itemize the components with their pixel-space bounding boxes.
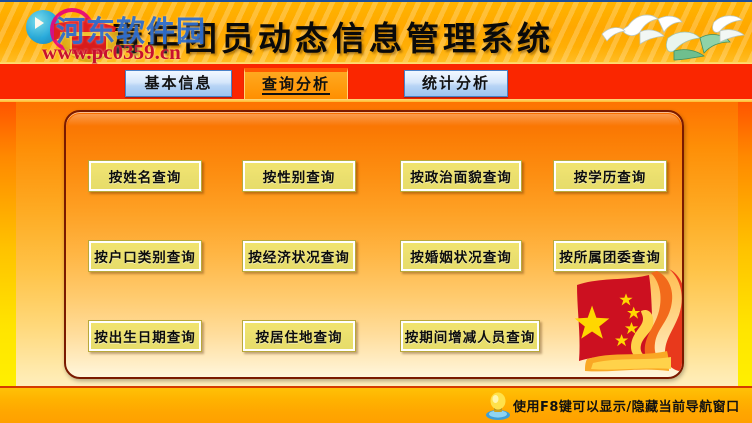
tab-basic-info[interactable]: 基本信息 — [125, 70, 232, 97]
query-button-by-birth-date[interactable]: 按出生日期查询 — [88, 320, 202, 352]
query-button-by-household-type[interactable]: 按户口类别查询 — [88, 240, 202, 272]
query-button-by-economic-status-label: 按经济状况查询 — [248, 246, 350, 266]
tab-bar: 基本信息 查询分析 统计分析 — [0, 64, 752, 101]
query-button-by-period-change-label: 按期间增减人员查询 — [405, 326, 536, 346]
query-button-by-name[interactable]: 按姓名查询 — [88, 160, 202, 192]
tab-statistics-analysis[interactable]: 统计分析 — [404, 70, 508, 97]
query-button-by-education[interactable]: 按学历查询 — [553, 160, 667, 192]
query-button-by-gender[interactable]: 按性别查询 — [242, 160, 356, 192]
query-button-by-birth-date-label: 按出生日期查询 — [94, 326, 196, 346]
query-button-by-economic-status[interactable]: 按经济状况查询 — [242, 240, 356, 272]
application-window: 青年团员动态信息管理系统 — [0, 0, 752, 423]
query-button-by-political-status[interactable]: 按政治面貌查询 — [400, 160, 522, 192]
query-button-by-household-type-label: 按户口类别查询 — [94, 246, 196, 266]
tab-query-analysis-label: 查询分析 — [262, 75, 330, 95]
watermark-logo-group: 河东软件园 www.pc0359.cn — [6, 4, 206, 66]
watermark-url: www.pc0359.cn — [42, 40, 181, 65]
query-button-by-gender-label: 按性别查询 — [263, 166, 336, 186]
lightbulb-icon — [484, 391, 512, 421]
query-button-by-marital-status-label: 按婚姻状况查询 — [410, 246, 512, 266]
query-button-by-political-status-label: 按政治面貌查询 — [410, 166, 512, 186]
query-button-by-marital-status[interactable]: 按婚姻状况查询 — [400, 240, 522, 272]
query-button-by-league-committee-label: 按所属团委查询 — [559, 246, 661, 266]
tab-basic-info-label: 基本信息 — [144, 74, 212, 92]
status-bar: 使用F8键可以显示/隐藏当前导航窗口 — [0, 386, 752, 423]
query-button-by-residence[interactable]: 按居住地查询 — [242, 320, 356, 352]
china-flag-with-faces-icon — [571, 267, 684, 375]
panel-highlight — [68, 114, 680, 126]
query-panel: 按姓名查询 按性别查询 按政治面貌查询 按学历查询 按户口类别查询 按经济状况查… — [64, 110, 684, 379]
tab-underline-strip — [0, 99, 752, 102]
query-button-by-period-change[interactable]: 按期间增减人员查询 — [400, 320, 540, 352]
query-button-by-name-label: 按姓名查询 — [109, 166, 182, 186]
tab-statistics-analysis-label: 统计分析 — [422, 74, 490, 92]
query-button-by-education-label: 按学历查询 — [574, 166, 647, 186]
query-button-by-residence-label: 按居住地查询 — [256, 326, 343, 346]
status-hint-text: 使用F8键可以显示/隐藏当前导航窗口 — [513, 396, 740, 415]
tab-query-analysis[interactable]: 查询分析 — [244, 68, 348, 100]
left-edge-strip — [0, 78, 16, 388]
right-edge-strip — [738, 78, 752, 388]
flying-doves-icon — [584, 8, 748, 66]
header-banner: 青年团员动态信息管理系统 — [0, 0, 752, 66]
